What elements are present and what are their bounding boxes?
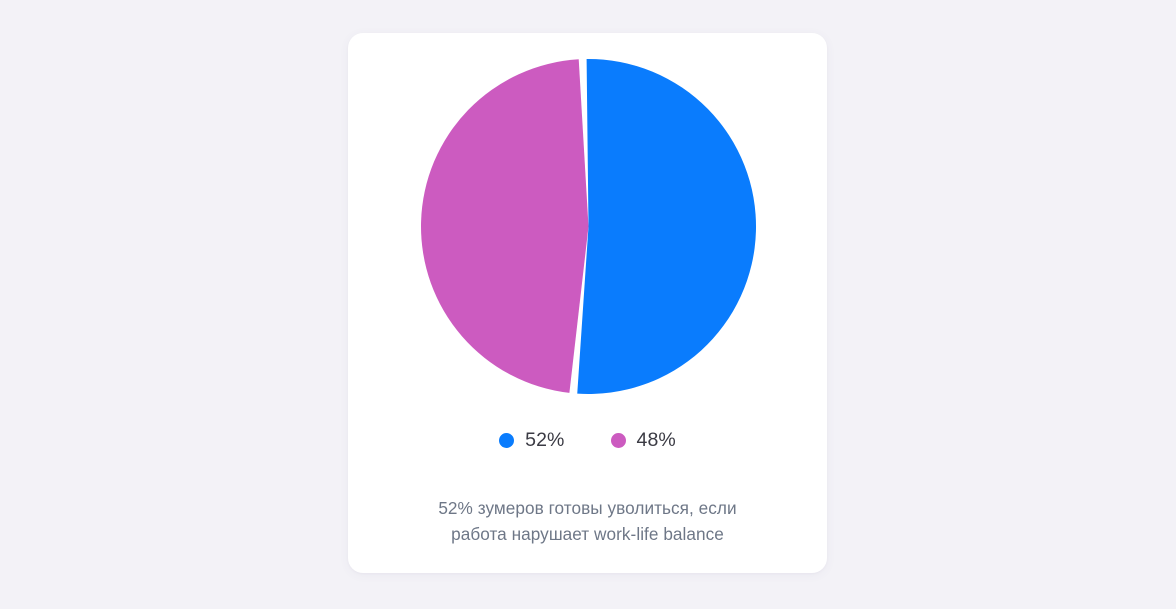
pie-chart-svg: [421, 58, 756, 395]
screenshot-canvas: 52% 48% 52% зумеров готовы уволиться, ес…: [0, 0, 1176, 609]
pie-slice-52[interactable]: [577, 59, 756, 394]
chart-caption: 52% зумеров готовы уволиться, если работ…: [386, 495, 789, 547]
legend-item-48[interactable]: 48%: [611, 431, 676, 451]
caption-line-2: работа нарушает work-life balance: [386, 521, 789, 547]
caption-line-1: 52% зумеров готовы уволиться, если: [386, 495, 789, 521]
chart-legend: 52% 48%: [348, 431, 827, 451]
pie-chart: [421, 58, 756, 395]
legend-item-52[interactable]: 52%: [499, 431, 564, 451]
legend-swatch-circle-icon: [611, 433, 626, 448]
chart-card: 52% 48% 52% зумеров готовы уволиться, ес…: [348, 33, 827, 573]
legend-label-52: 52%: [525, 431, 564, 451]
pie-slice-48[interactable]: [421, 59, 589, 393]
legend-swatch-circle-icon: [499, 433, 514, 448]
legend-label-48: 48%: [637, 431, 676, 451]
pie-slices: [421, 59, 756, 394]
